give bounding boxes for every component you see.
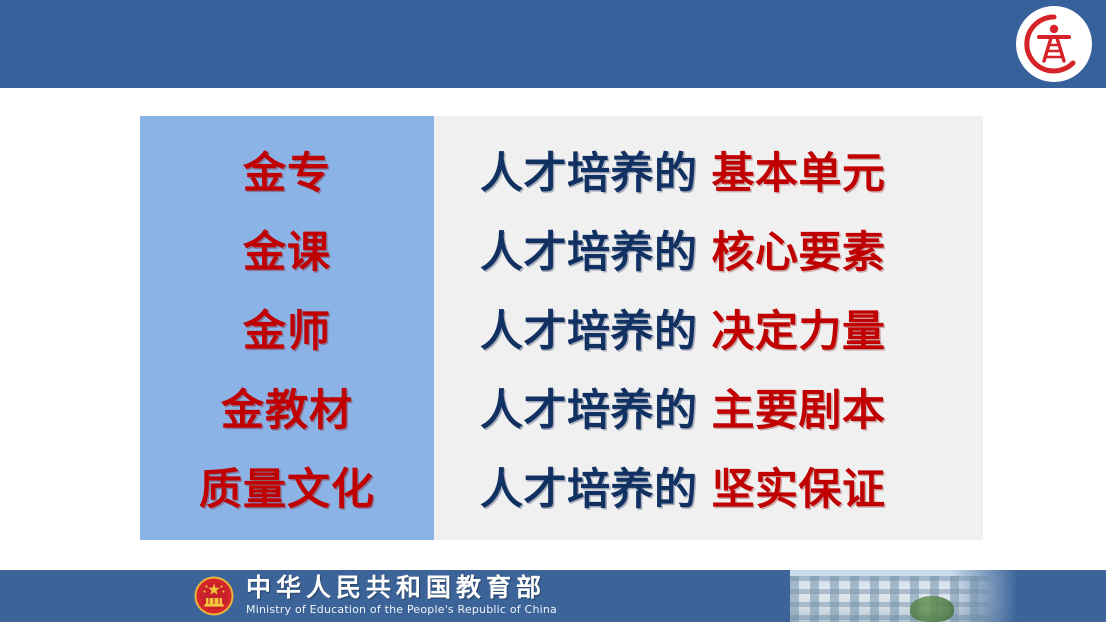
phrase-highlight: 坚实保证 [712, 455, 886, 517]
phrase-prefix: 人才培养的 [480, 218, 698, 280]
term-label: 质量文化 [199, 455, 375, 517]
description-row: 人才培养的 核心要素 [480, 210, 983, 289]
university-tower-emblem-icon [1021, 11, 1087, 77]
term-label: 金教材 [221, 376, 353, 438]
term-row: 质量文化 [140, 447, 434, 526]
term-row: 金专 [140, 131, 434, 210]
university-logo [1016, 6, 1092, 82]
building-facade [790, 576, 990, 622]
phrase-prefix: 人才培养的 [480, 139, 698, 201]
phrase-highlight: 核心要素 [712, 218, 886, 280]
tree-decoration [910, 596, 954, 622]
description-row: 人才培养的 主要剧本 [480, 368, 983, 447]
description-row: 人才培养的 基本单元 [480, 131, 983, 210]
footer-bar: 中华人民共和国教育部 Ministry of Education of the … [0, 570, 1106, 622]
term-label: 金课 [243, 218, 331, 280]
phrase-prefix: 人才培养的 [480, 297, 698, 359]
header-bar [0, 0, 1106, 88]
ministry-name-cn: 中华人民共和国教育部 [246, 573, 766, 603]
ministry-building-photo [790, 570, 1018, 622]
description-row: 人才培养的 决定力量 [480, 289, 983, 368]
content-panel: 金专 金课 金师 金教材 质量文化 人才培养的 基本单元 人才培养的 核心要素 … [140, 116, 983, 540]
phrase-highlight: 主要剧本 [712, 376, 886, 438]
term-label: 金师 [243, 297, 331, 359]
ministry-name-en: Ministry of Education of the People's Re… [246, 603, 766, 617]
phrase-highlight: 决定力量 [712, 297, 886, 359]
descriptions-column: 人才培养的 基本单元 人才培养的 核心要素 人才培养的 决定力量 人才培养的 主… [434, 116, 983, 540]
phrase-prefix: 人才培养的 [480, 455, 698, 517]
footer-title-block: 中华人民共和国教育部 Ministry of Education of the … [246, 573, 766, 617]
term-row: 金课 [140, 210, 434, 289]
term-label: 金专 [243, 139, 331, 201]
term-row: 金师 [140, 289, 434, 368]
phrase-highlight: 基本单元 [712, 139, 886, 201]
phrase-prefix: 人才培养的 [480, 376, 698, 438]
national-emblem-of-china-icon [194, 576, 234, 616]
term-row: 金教材 [140, 368, 434, 447]
terms-column: 金专 金课 金师 金教材 质量文化 [140, 116, 434, 540]
description-row: 人才培养的 坚实保证 [480, 447, 983, 526]
